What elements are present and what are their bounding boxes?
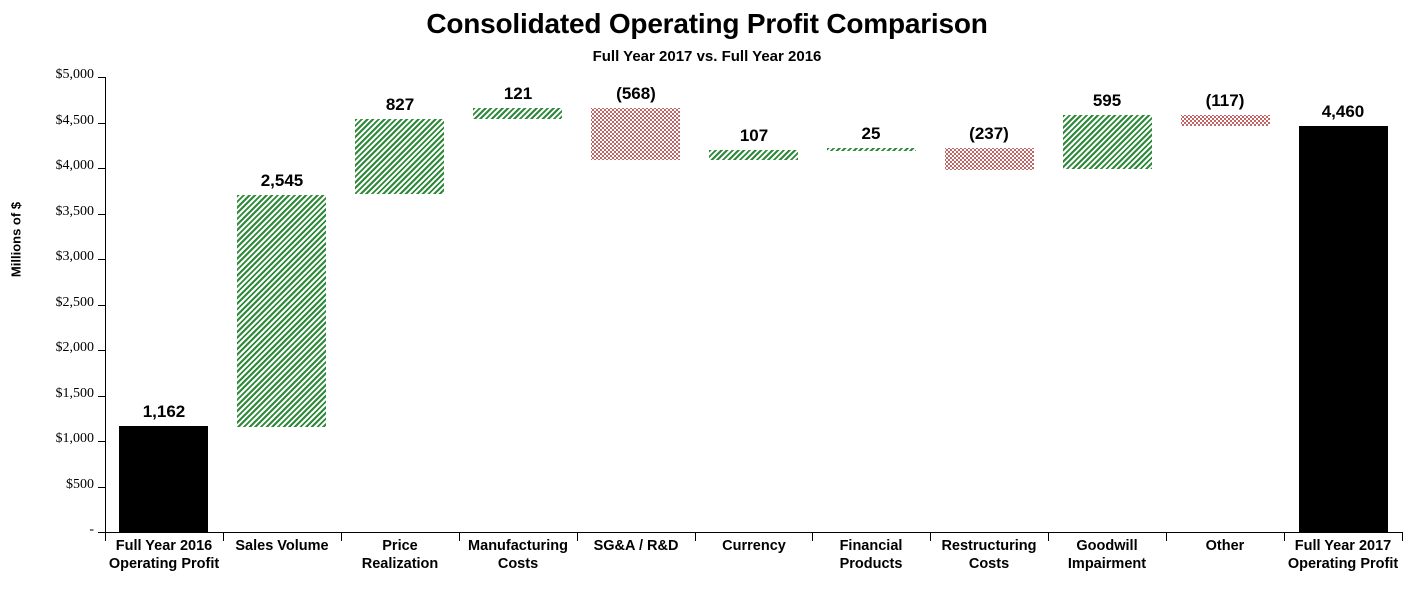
category-label: Full Year 2016Operating Profit (99, 538, 229, 573)
y-tick-mark (98, 396, 105, 397)
x-axis-line (105, 532, 1402, 533)
y-tick-mark (98, 350, 105, 351)
bar-9[interactable] (1063, 115, 1152, 169)
bar-11[interactable] (1299, 126, 1388, 532)
y-tick-mark (98, 259, 105, 260)
category-label-line1: Manufacturing (453, 538, 583, 556)
category-label-line1: Financial (806, 538, 936, 556)
category-label-line1: Currency (689, 538, 819, 556)
category-label-line1: Goodwill (1042, 538, 1172, 556)
category-label-line1: Price (335, 538, 465, 556)
category-label: Sales Volume (217, 538, 347, 556)
bar-8[interactable] (945, 148, 1034, 170)
y-tick-mark (98, 77, 105, 78)
y-tick-label: $2,500 (34, 296, 94, 310)
y-tick-mark (98, 168, 105, 169)
y-tick-label: $1,000 (34, 432, 94, 446)
category-label-line2: Impairment (1042, 556, 1172, 574)
y-axis-line (105, 77, 106, 533)
bar-10[interactable] (1181, 115, 1270, 126)
chart-subtitle: Full Year 2017 vs. Full Year 2016 (0, 48, 1414, 65)
y-tick-label: $4,500 (34, 114, 94, 128)
y-tick-label: $3,000 (34, 250, 94, 264)
y-tick-label: $1,500 (34, 387, 94, 401)
category-label: GoodwillImpairment (1042, 538, 1172, 573)
y-tick-label: - (34, 523, 94, 537)
y-tick-label: $500 (34, 478, 94, 492)
bar-value-label: 25 (812, 125, 930, 142)
y-axis-tick-labels: $5,000$4,500$4,000$3,500$3,000$2,500$2,0… (32, 0, 94, 607)
chart-title: Consolidated Operating Profit Comparison (0, 8, 1414, 40)
category-label: PriceRealization (335, 538, 465, 573)
bar-value-label: (117) (1166, 92, 1284, 109)
bar-5[interactable] (591, 108, 680, 160)
category-label: Other (1160, 538, 1290, 556)
y-tick-label: $3,500 (34, 205, 94, 219)
y-tick-mark (98, 214, 105, 215)
category-label-line1: Full Year 2017 (1278, 538, 1408, 556)
bar-value-label: (568) (577, 85, 695, 102)
category-label-line1: Full Year 2016 (99, 538, 229, 556)
bar-value-label: 121 (459, 85, 577, 102)
bar-value-label: 827 (341, 96, 459, 113)
y-tick-mark (98, 305, 105, 306)
category-label-line1: SG&A / R&D (571, 538, 701, 556)
y-tick-mark (98, 441, 105, 442)
category-label: ManufacturingCosts (453, 538, 583, 573)
bar-value-label: 107 (695, 127, 813, 144)
category-label-line2: Costs (924, 556, 1054, 574)
category-label: SG&A / R&D (571, 538, 701, 556)
bar-value-label: 1,162 (105, 403, 223, 420)
category-label-line1: Other (1160, 538, 1290, 556)
bar-1[interactable] (119, 426, 208, 532)
bar-value-label: 595 (1048, 92, 1166, 109)
category-label: RestructuringCosts (924, 538, 1054, 573)
waterfall-chart: Consolidated Operating Profit Comparison… (0, 0, 1414, 607)
y-tick-label: $2,000 (34, 341, 94, 355)
y-tick-label: $5,000 (34, 68, 94, 82)
bar-6[interactable] (709, 150, 798, 160)
bar-value-label: (237) (930, 125, 1048, 142)
bar-7[interactable] (827, 148, 916, 151)
y-tick-mark (98, 487, 105, 488)
bar-value-label: 4,460 (1284, 103, 1402, 120)
y-tick-mark (98, 123, 105, 124)
category-label: Full Year 2017Operating Profit (1278, 538, 1408, 573)
y-tick-label: $4,000 (34, 159, 94, 173)
category-label-line2: Operating Profit (1278, 556, 1408, 574)
category-label-line2: Costs (453, 556, 583, 574)
bar-3[interactable] (355, 119, 444, 194)
category-label-line1: Restructuring (924, 538, 1054, 556)
category-label: Currency (689, 538, 819, 556)
category-label-line2: Products (806, 556, 936, 574)
bar-value-label: 2,545 (223, 172, 341, 189)
category-label-line2: Operating Profit (99, 556, 229, 574)
category-label-line1: Sales Volume (217, 538, 347, 556)
category-label: FinancialProducts (806, 538, 936, 573)
bar-2[interactable] (237, 195, 326, 427)
y-axis-label: Millions of $ (9, 180, 24, 300)
bar-4[interactable] (473, 108, 562, 119)
y-tick-mark (98, 532, 105, 533)
category-label-line2: Realization (335, 556, 465, 574)
